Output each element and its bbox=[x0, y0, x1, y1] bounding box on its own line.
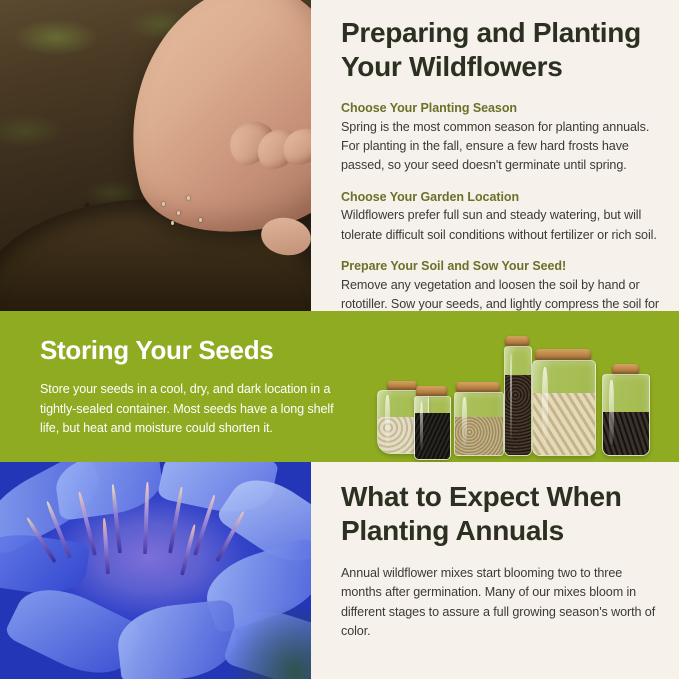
blue-cornflower-image bbox=[0, 462, 311, 679]
seed-jars-image bbox=[369, 311, 679, 462]
subheading-prepare-soil: Prepare Your Soil and Sow Your Seed! bbox=[341, 258, 665, 275]
jar-black-seeds bbox=[414, 386, 449, 460]
jar-tan-grain bbox=[454, 382, 502, 456]
preparing-text-column: Preparing and Planting Your Wildflowers … bbox=[341, 0, 665, 311]
subheading-planting-season: Choose Your Planting Season bbox=[341, 100, 665, 117]
storing-title: Storing Your Seeds bbox=[40, 335, 340, 366]
jar-dark-peppercorn bbox=[504, 336, 530, 456]
expect-body: Annual wildflower mixes start blooming t… bbox=[341, 564, 665, 641]
section-what-to-expect: What to Expect When Planting Annuals Ann… bbox=[0, 462, 679, 679]
section-preparing-and-planting: Preparing and Planting Your Wildflowers … bbox=[0, 0, 679, 311]
storing-text-column: Storing Your Seeds Store your seeds in a… bbox=[40, 335, 340, 439]
storing-body: Store your seeds in a cool, dry, and dar… bbox=[40, 380, 340, 439]
page-title: Preparing and Planting Your Wildflowers bbox=[341, 0, 665, 84]
body-planting-season: Spring is the most common season for pla… bbox=[341, 118, 665, 175]
seed-speck bbox=[187, 196, 190, 200]
background-foliage bbox=[230, 605, 311, 679]
infographic-page: Preparing and Planting Your Wildflowers … bbox=[0, 0, 679, 679]
seed-speck bbox=[199, 218, 202, 222]
section-storing-your-seeds: Storing Your Seeds Store your seeds in a… bbox=[0, 311, 679, 462]
hand-sowing-seeds-image bbox=[0, 0, 311, 311]
expect-text-column: What to Expect When Planting Annuals Ann… bbox=[341, 480, 665, 641]
seed-speck bbox=[171, 221, 174, 225]
subheading-garden-location: Choose Your Garden Location bbox=[341, 189, 665, 206]
expect-title: What to Expect When Planting Annuals bbox=[341, 480, 665, 548]
jar-pumpkin-seeds bbox=[532, 349, 594, 456]
seed-speck bbox=[162, 202, 165, 206]
jar-sunflower-seeds bbox=[602, 364, 648, 456]
body-garden-location: Wildflowers prefer full sun and steady w… bbox=[341, 206, 665, 244]
